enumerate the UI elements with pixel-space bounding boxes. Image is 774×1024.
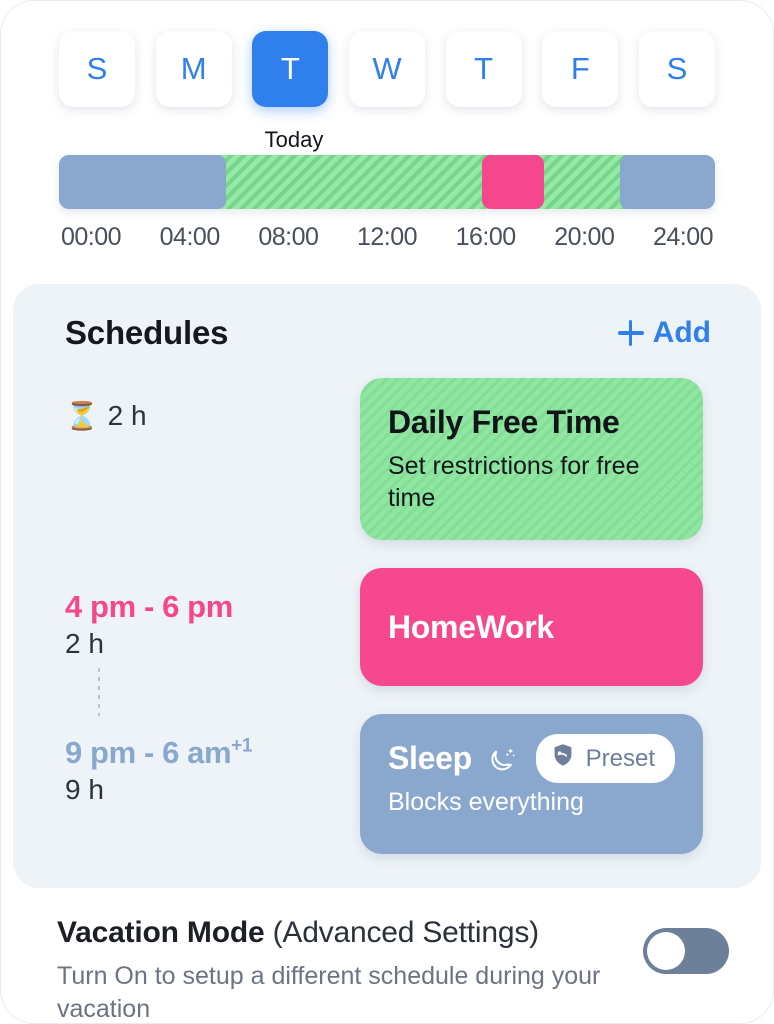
schedule-card-title: HomeWork	[388, 609, 554, 646]
schedule-row-homework: 4 pm - 6 pm 2 h HomeWork	[13, 568, 761, 686]
schedule-list: ⏳ 2 h Daily Free Time Set restrictions f…	[13, 378, 761, 854]
timeline-tick: 08:00	[258, 223, 318, 252]
schedule-card-sleep[interactable]: Sleep Blocks everything	[360, 714, 703, 854]
today-label: Today	[256, 127, 332, 153]
day-chip-label: T	[281, 51, 300, 87]
add-schedule-label: Add	[653, 316, 711, 350]
schedule-connector-line	[98, 668, 100, 716]
vacation-mode-title: Vacation Mode (Advanced Settings)	[57, 916, 602, 950]
day-chip-label: W	[372, 51, 401, 87]
next-day-badge: +1	[231, 736, 252, 757]
timeline-section: 00:00 04:00 08:00 12:00 16:00 20:00 24:0…	[1, 155, 773, 252]
timeline-tick: 00:00	[61, 223, 121, 252]
day-chip-tuesday[interactable]: T	[252, 31, 328, 107]
schedules-header: Schedules Add	[13, 314, 761, 352]
page-title: Schedules	[65, 314, 228, 352]
schedule-card-title: Daily Free Time	[388, 404, 675, 441]
preset-badge[interactable]: Preset	[536, 734, 675, 783]
timeline-tick: 12:00	[357, 223, 417, 252]
schedule-meta: 4 pm - 6 pm 2 h	[65, 568, 360, 686]
schedule-card-subtitle: Blocks everything	[388, 786, 675, 818]
schedule-row-sleep: 9 pm - 6 am+1 9 h Sleep	[13, 714, 761, 854]
timeline-ticks: 00:00 04:00 08:00 12:00 16:00 20:00 24:0…	[59, 223, 715, 252]
moon-icon	[484, 742, 518, 776]
schedule-row-free-time: ⏳ 2 h Daily Free Time Set restrictions f…	[13, 378, 761, 540]
vacation-mode-description: Turn On to setup a different schedule du…	[57, 960, 602, 1024]
shield-icon	[550, 742, 576, 775]
day-chip-sunday[interactable]: S	[59, 31, 135, 107]
vacation-mode-section: Vacation Mode (Advanced Settings) Turn O…	[1, 888, 773, 1024]
day-chip-thursday[interactable]: T	[446, 31, 522, 107]
day-chip-monday[interactable]: M	[156, 31, 232, 107]
timeline-tick: 04:00	[160, 223, 220, 252]
schedule-meta: 9 pm - 6 am+1 9 h	[65, 714, 360, 854]
schedule-meta: ⏳ 2 h	[65, 378, 360, 540]
timeline-segment-homework	[482, 155, 544, 209]
day-chip-label: T	[474, 51, 493, 87]
day-chip-label: S	[87, 51, 108, 87]
timeline-segment-sleep-night	[620, 155, 715, 209]
schedule-card-free-time[interactable]: Daily Free Time Set restrictions for fre…	[360, 378, 703, 540]
schedule-time-range: 9 pm - 6 am+1	[65, 736, 360, 770]
timeline-tick: 24:00	[653, 223, 713, 252]
vacation-mode-title-suffix: (Advanced Settings)	[273, 916, 539, 949]
schedule-duration-label: 2 h	[108, 400, 147, 432]
timeline-segment-sleep-morning	[59, 155, 226, 209]
vacation-mode-title-main: Vacation Mode	[57, 916, 264, 949]
schedule-time-range-text: 9 pm - 6 am	[65, 735, 231, 770]
add-schedule-button[interactable]: Add	[618, 316, 711, 350]
schedule-card-subtitle: Set restrictions for free time	[388, 450, 675, 514]
preset-label: Preset	[586, 745, 655, 773]
day-chip-wednesday[interactable]: W	[349, 31, 425, 107]
vacation-mode-text: Vacation Mode (Advanced Settings) Turn O…	[57, 916, 602, 1024]
vacation-mode-toggle[interactable]	[643, 928, 729, 974]
timeline-tick: 16:00	[456, 223, 516, 252]
timeline-tick: 20:00	[554, 223, 614, 252]
schedule-duration-label: 2 h	[65, 628, 360, 660]
toggle-knob	[647, 932, 685, 970]
schedule-card-homework[interactable]: HomeWork	[360, 568, 703, 686]
schedule-screen: S M T W T F S Today 00:00 04:00 08:00 12…	[0, 0, 774, 1024]
day-chip-label: S	[667, 51, 688, 87]
hourglass-icon: ⏳	[65, 403, 99, 430]
schedule-time-range: 4 pm - 6 pm	[65, 590, 360, 624]
plus-icon	[618, 320, 644, 346]
timeline-bar[interactable]	[59, 155, 715, 209]
day-chip-friday[interactable]: F	[542, 31, 618, 107]
schedule-duration-label: 9 h	[65, 774, 360, 806]
schedules-panel: Schedules Add ⏳ 2 h Daily Free Time Set …	[13, 284, 761, 888]
day-chip-saturday[interactable]: S	[639, 31, 715, 107]
schedule-card-title: Sleep	[388, 740, 472, 777]
day-chip-label: M	[181, 51, 207, 87]
schedule-duration: ⏳ 2 h	[65, 400, 360, 432]
day-chip-label: F	[571, 51, 590, 87]
day-selector: S M T W T F S	[1, 1, 773, 107]
